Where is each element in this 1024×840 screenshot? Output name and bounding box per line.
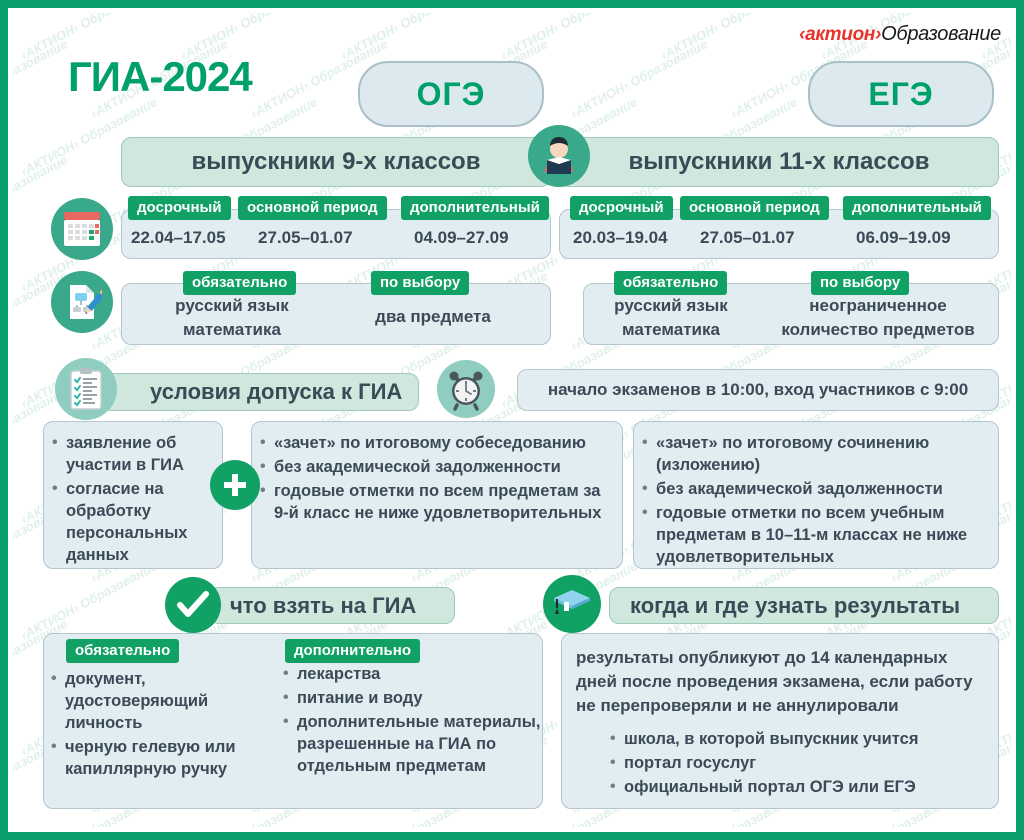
list-item: без академической задолженности: [258, 456, 614, 478]
admission-ege-list: «зачет» по итоговому сочинению (изложени…: [640, 432, 990, 568]
list-item: без академической задолженности: [640, 478, 990, 500]
alarm-clock-icon: [437, 360, 495, 418]
admission-common-list: заявление об участии в ГИАсогласие на об…: [50, 432, 214, 566]
list-item: питание и воду: [281, 687, 541, 709]
list-item: школа, в которой выпускник учится: [608, 728, 984, 750]
period-dates-ege-1: 27.05–01.07: [700, 228, 795, 248]
take-required-list: документ, удостоверяющий личностьчерную …: [49, 668, 277, 782]
period-dates-oge-0: 22.04–17.05: [131, 228, 226, 248]
list-item: официальный портал ОГЭ или ЕГЭ: [608, 776, 984, 798]
subject-label-ege-1: по выбору: [811, 271, 909, 295]
period-label-ege-1: основной период: [680, 196, 829, 220]
brand-education-text: Образование: [881, 23, 1001, 45]
checkmark-icon: [165, 577, 221, 633]
brand-action-text: ‹актион›: [799, 24, 881, 45]
audience-bar-oge: выпускники 9-х классов: [121, 137, 551, 187]
subject-value-oge-1: два предмета: [333, 305, 533, 329]
list-item: «зачет» по итоговому сочинению (изложени…: [640, 432, 990, 476]
take-optional-label: дополнительно: [285, 639, 420, 663]
checklist-icon: [55, 358, 117, 420]
period-dates-oge-2: 04.09–27.09: [414, 228, 509, 248]
list-item: годовые отметки по всем предметам за 9-й…: [258, 480, 614, 524]
subject-label-ege-0: обязательно: [614, 271, 727, 295]
tab-ege[interactable]: ЕГЭ: [808, 61, 994, 127]
list-item: документ, удостоверяющий личность: [49, 668, 277, 734]
period-label-ege-2: дополнительный: [843, 196, 991, 220]
period-label-oge-0: досрочный: [128, 196, 231, 220]
tab-oge[interactable]: ОГЭ: [358, 61, 544, 127]
subject-value-ege-0: русский язык математика: [576, 294, 766, 342]
subject-label-oge-0: обязательно: [183, 271, 296, 295]
list-item: дополнительные материалы, разрешенные на…: [281, 711, 541, 777]
take-required-label: обязательно: [66, 639, 179, 663]
period-label-oge-2: дополнительный: [401, 196, 549, 220]
admission-common-box: заявление об участии в ГИАсогласие на об…: [43, 421, 223, 569]
results-heading: когда и где узнать результаты: [609, 587, 999, 624]
period-label-ege-0: досрочный: [570, 196, 673, 220]
subject-value-oge-0: русский язык математика: [137, 294, 327, 342]
list-item: годовые отметки по всем учебным предмета…: [640, 502, 990, 568]
admission-heading: условия допуска к ГИА: [101, 373, 419, 411]
admission-ege-box: «зачет» по итоговому сочинению (изложени…: [633, 421, 999, 569]
exam-time-note: начало экзаменов в 10:00, вход участнико…: [517, 369, 999, 411]
list-item: портал госуслуг: [608, 752, 984, 774]
page-title: ГИА-2024: [68, 53, 252, 101]
period-label-oge-1: основной период: [238, 196, 387, 220]
brand-logo: ‹актион›Образование: [799, 23, 1001, 46]
results-box: результаты опубликуют до 14 календарных …: [561, 633, 999, 809]
audience-bar-ege: выпускники 11-х классов: [559, 137, 999, 187]
results-places-list: школа, в которой выпускник учитсяпортал …: [576, 728, 984, 798]
period-dates-oge-1: 27.05–01.07: [258, 228, 353, 248]
take-optional-list: лекарствапитание и водудополнительные ма…: [281, 663, 541, 779]
student-icon: [528, 125, 590, 187]
list-item: «зачет» по итоговому собеседованию: [258, 432, 614, 454]
subject-label-oge-1: по выбору: [371, 271, 469, 295]
period-dates-ege-2: 06.09–19.09: [856, 228, 951, 248]
poster-content: ‹актион›Образование ГИА-2024 ОГЭ ЕГЭ вып…: [13, 13, 1011, 827]
list-item: черную гелевую или капиллярную ручку: [49, 736, 277, 780]
plus-icon: [210, 460, 260, 510]
results-note: результаты опубликуют до 14 календарных …: [576, 646, 984, 718]
list-item: лекарства: [281, 663, 541, 685]
calendar-icon: [51, 198, 113, 260]
list-item: заявление об участии в ГИА: [50, 432, 214, 476]
take-heading: что взять на ГИА: [209, 587, 455, 624]
list-item: согласие на обработку персональных данны…: [50, 478, 214, 566]
poster-inner: ‹АКТИОН› Образование‹АКТИОН› Образование…: [8, 8, 1016, 832]
admission-oge-box: «зачет» по итоговому собеседованиюбез ак…: [251, 421, 623, 569]
graduation-cap-icon: [543, 575, 601, 633]
period-dates-ege-0: 20.03–19.04: [573, 228, 668, 248]
admission-oge-list: «зачет» по итоговому собеседованиюбез ак…: [258, 432, 614, 524]
infographic-poster: ‹АКТИОН› Образование‹АКТИОН› Образование…: [0, 0, 1024, 840]
document-pencil-icon: [51, 271, 113, 333]
exam-time-note-text: начало экзаменов в 10:00, вход участнико…: [548, 378, 968, 402]
subject-value-ege-1: неограниченное количество предметов: [763, 294, 993, 342]
